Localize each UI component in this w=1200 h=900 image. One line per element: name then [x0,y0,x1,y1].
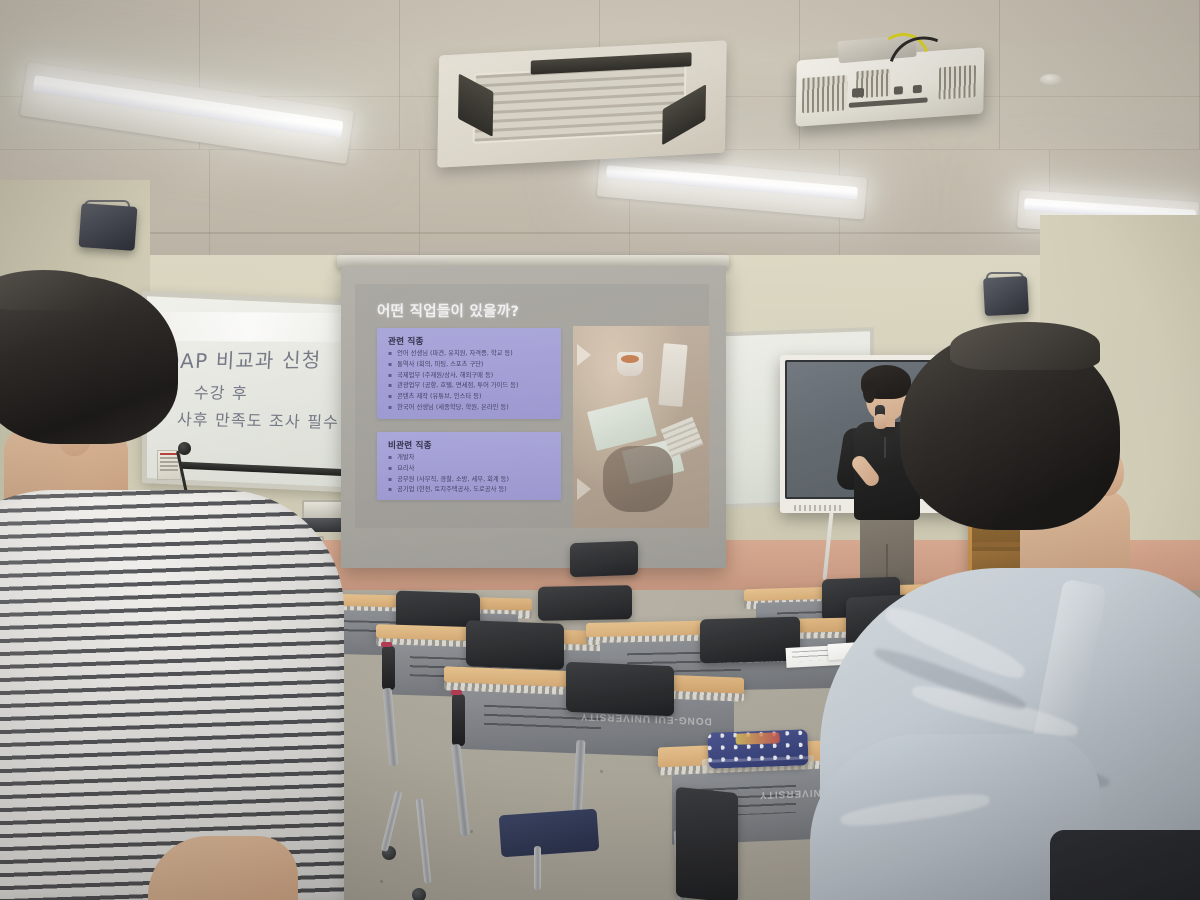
slide-stock-photo [573,326,709,528]
chair-near-1 [566,662,674,717]
rolling-chair-post [534,846,541,890]
bullet-dot-icon: ▪ [388,394,392,400]
slide-section-related: 관련 직종 ▪언어 선생님 (파견, 유치원, 자격증, 학교 등) ▪통역사 … [377,328,561,419]
pencil-case-label [735,732,779,745]
desk-leg-band [451,690,462,695]
wall-speaker-left [79,203,138,251]
student-right-hair-top [950,322,1100,370]
chair-far-2 [538,585,632,621]
slide-bullet: ▪콘텐츠 제작 (유튜브, 인스타 등) [388,394,553,401]
student-left-shirt-shading [0,490,344,900]
slide-bullet: ▪개발자 [388,455,553,462]
smoke-detector [1040,74,1062,85]
student-right-backpack [1050,830,1200,900]
slide-section-unrelated: 비관련 직종 ▪개발자 ▪요리사 ▪공무원 (사무직, 경찰, 소방, 세무, … [377,432,561,500]
student-left-hair-top [0,270,104,310]
slide-bullet: ▪국제업무 (주재원/상사, 해외구매 등) [388,373,553,380]
slide-bullet: ▪공무원 (사무직, 경찰, 소방, 세무, 회계 등) [388,477,553,484]
chair-far-4 [570,541,638,577]
desk-leg-band [381,642,392,647]
slide-bullet: ▪요리사 [388,466,553,473]
bullet-dot-icon: ▪ [388,383,392,389]
chair-caster [412,888,426,900]
air-conditioner-unit [437,40,727,167]
slide-bullet: ▪관광업무 (공항, 호텔, 면세점, 투어 가이드 등) [388,383,553,390]
bullet-dot-icon: ▪ [388,477,392,483]
slide-bullets-unrelated: ▪개발자 ▪요리사 ▪공무원 (사무직, 경찰, 소방, 세무, 회계 등) ▪… [388,455,553,498]
bullet-dot-icon: ▪ [388,487,392,493]
slide-section-heading-related: 관련 직종 [388,335,424,347]
bullet-dot-icon: ▪ [388,466,392,472]
desk-leg-cap [382,646,395,690]
presentation-slide: 어떤 직업들이 있을까? 관련 직종 ▪언어 선생님 (파견, 유치원, 자격증… [355,284,709,528]
classroom-photo: DAP 비교과 신청 수강 후 사후 만족도 조사 필수! 어떤 직업들이 있을… [0,0,1200,900]
bullet-dot-icon: ▪ [388,373,392,379]
slide-bullet: ▪공기업 (한전, 토지주택공사, 도로공사 등) [388,487,553,494]
chair-mid-1 [466,620,564,670]
bullet-dot-icon: ▪ [388,351,392,357]
slide-bullet: ▪통역사 (회의, 미팅, 스포츠 구단) [388,362,553,369]
pencil-case[interactable] [707,729,808,768]
rolling-chair-seat [499,809,600,858]
wall-speaker-right [983,276,1029,316]
bullet-dot-icon: ▪ [388,362,392,368]
projection-screen: 어떤 직업들이 있을까? 관련 직종 ▪언어 선생님 (파견, 유치원, 자격증… [341,266,726,568]
bullet-dot-icon: ▪ [388,455,392,461]
slide-photo-monitor [658,343,687,407]
pencil-case-zipper [708,756,808,762]
desk-leg-cap [452,694,465,746]
student-foreground-left [0,276,360,900]
slide-photo-paper-1 [587,397,657,451]
slide-title: 어떤 직업들이 있을까? [377,300,519,321]
slide-bullet: ▪한국어 선생님 (세종학당, 학원, 온라인 등) [388,405,553,412]
slide-bullet: ▪언어 선생님 (파견, 유치원, 자격증, 학교 등) [388,351,553,358]
chair-near-2 [676,787,738,900]
student-foreground-right [840,330,1200,900]
slide-bullets-related: ▪언어 선생님 (파견, 유치원, 자격증, 학교 등) ▪통역사 (회의, 미… [388,351,553,416]
slide-photo-person [603,446,673,512]
slide-photo-arrow-top [577,344,591,366]
bullet-dot-icon: ▪ [388,405,392,411]
slide-photo-arrow-bottom [577,478,591,500]
slide-photo-mug [617,352,643,376]
slide-section-heading-unrelated: 비관련 직종 [388,439,432,451]
